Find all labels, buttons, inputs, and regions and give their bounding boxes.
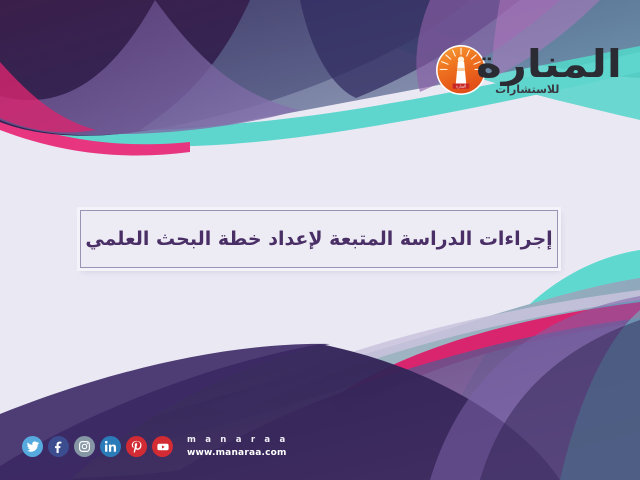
footer-bar: m a n a r a a www.manaraa.com: [22, 436, 288, 458]
facebook-icon[interactable]: [48, 436, 69, 457]
logo-wordmark: المنارة للاستشارات: [495, 45, 622, 95]
badge-caption-text: المنارة: [456, 85, 466, 89]
youtube-icon[interactable]: [152, 436, 173, 457]
company-logo: المنارة للاستشارات المنارة: [435, 44, 622, 96]
instagram-icon[interactable]: [74, 436, 95, 457]
social-links: [22, 436, 173, 457]
brand-name-spaced: m a n a r a a: [187, 436, 288, 446]
brand-footer-text: m a n a r a a www.manaraa.com: [187, 436, 288, 458]
linkedin-icon[interactable]: [100, 436, 121, 457]
presentation-slide: المنارة للاستشارات المنارة: [0, 0, 640, 480]
page-title: إجراءات الدراسة المتبعة لإعداد خطة البحث…: [85, 228, 552, 251]
pinterest-icon[interactable]: [126, 436, 147, 457]
logo-name-text: المنارة: [476, 45, 622, 83]
website-url[interactable]: www.manaraa.com: [187, 448, 288, 458]
twitter-icon[interactable]: [22, 436, 43, 457]
slide-title-box: إجراءات الدراسة المتبعة لإعداد خطة البحث…: [80, 210, 558, 268]
